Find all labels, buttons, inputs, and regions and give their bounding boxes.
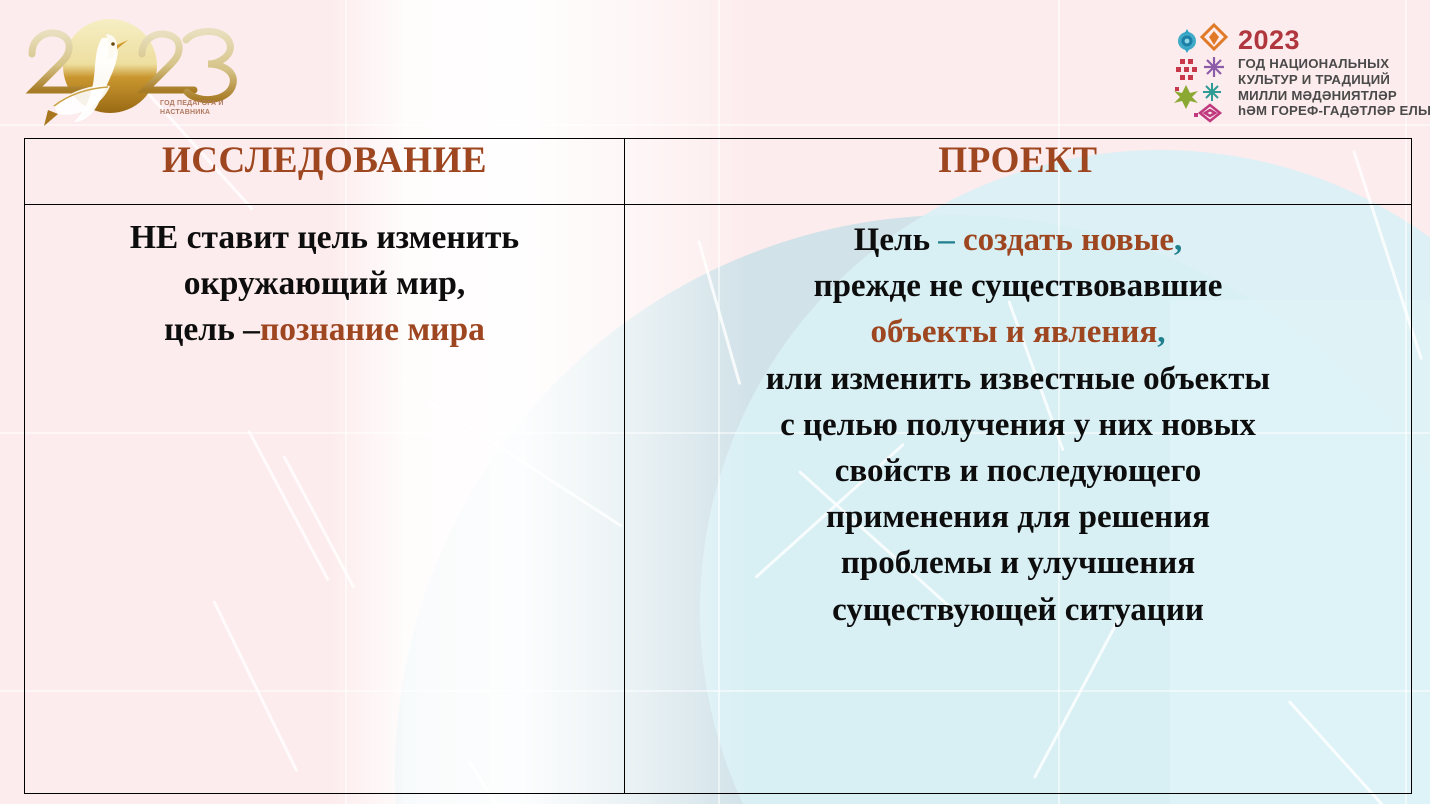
table-body-row: НЕ ставит цель изменить окружающий мир, … (25, 205, 1412, 794)
research-text: НЕ ставит цель изменить окружающий мир, … (25, 205, 624, 353)
project-line-4: или изменить известные объекты (631, 356, 1405, 402)
project-text: Цель – создать новые, прежде не существо… (625, 205, 1411, 633)
project-line-7: применения для решения (631, 494, 1405, 540)
research-line-1: НЕ ставит цель изменить (31, 215, 618, 261)
project-line-9: существующей ситуации (631, 587, 1405, 633)
project-line-6: свойств и последующего (631, 448, 1405, 494)
year-of-national-cultures-2023-logo: 2023 ГОД НАЦИОНАЛЬНЫХ КУЛЬТУР И ТРАДИЦИЙ… (1170, 18, 1420, 128)
tatar-ornament-icon (1170, 21, 1232, 125)
project-line-3-accent: объекты и явления (870, 314, 1157, 350)
project-line-1-dash: – (938, 222, 963, 258)
column-header-research: ИССЛЕДОВАНИЕ (25, 139, 625, 205)
project-line-1-comma: , (1174, 222, 1182, 258)
national-cultures-text-block: 2023 ГОД НАЦИОНАЛЬНЫХ КУЛЬТУР И ТРАДИЦИЙ… (1238, 27, 1430, 118)
teacher-year-subtitle: ГОД ПЕДАГОГА И НАСТАВНИКА (160, 100, 244, 118)
logo-line-4: һӘМ ГОРЕФ-ГАДӘТЛӘР ЕЛЫ (1238, 103, 1430, 119)
project-line-3: объекты и явления, (631, 309, 1405, 355)
column-header-project: ПРОЕКТ (625, 139, 1412, 205)
project-line-1: Цель – создать новые, (631, 217, 1405, 263)
project-line-5: с целью получения у них новых (631, 402, 1405, 448)
logo-line-3: МИЛЛИ МӘДӘНИЯТЛӘР (1238, 88, 1430, 104)
logo-year-2023: 2023 (1238, 27, 1430, 54)
project-line-1-plain: Цель (854, 222, 939, 258)
table-header-row: ИССЛЕДОВАНИЕ ПРОЕКТ (25, 139, 1412, 205)
project-line-3-comma: , (1157, 314, 1165, 350)
research-line-3: цель –познание мира (31, 307, 618, 353)
project-line-8: проблемы и улучшения (631, 540, 1405, 586)
research-line-3-accent: познание мира (260, 311, 485, 348)
project-line-2: прежде не существовавшие (631, 263, 1405, 309)
logo-line-2: КУЛЬТУР И ТРАДИЦИЙ (1238, 72, 1430, 88)
cell-research-description: НЕ ставит цель изменить окружающий мир, … (25, 205, 625, 794)
project-line-1-accent: создать новые (963, 222, 1174, 258)
cell-project-description: Цель – создать новые, прежде не существо… (625, 205, 1412, 794)
research-line-2: окружающий мир, (31, 261, 618, 307)
comparison-table: ИССЛЕДОВАНИЕ ПРОЕКТ НЕ ставит цель измен… (24, 138, 1412, 794)
year-of-teacher-2023-logo: ГОД ПЕДАГОГА И НАСТАВНИКА (14, 14, 244, 134)
research-line-3-plain: цель – (164, 311, 260, 348)
logo-line-1: ГОД НАЦИОНАЛЬНЫХ (1238, 56, 1430, 72)
